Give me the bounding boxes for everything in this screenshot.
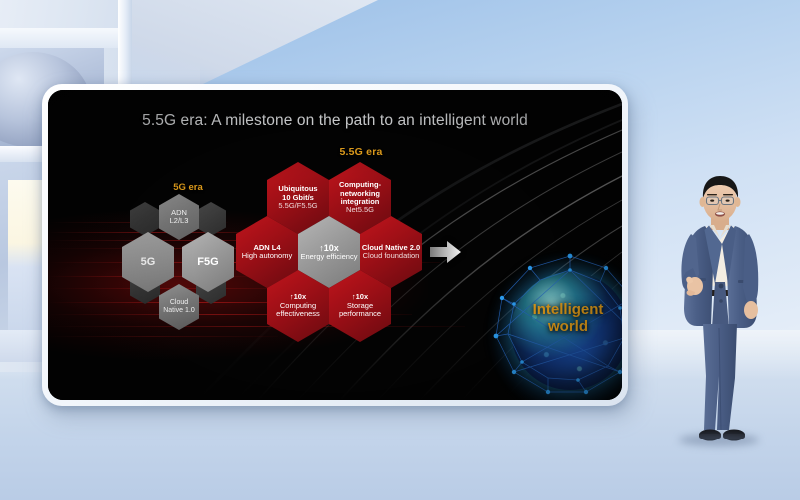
shelf-top [0,28,120,48]
presenter-shadow [679,434,759,446]
screenshot-stage: 5.5G era: A milestone on the path to an … [0,0,800,500]
presentation-screen-frame: 5.5G era: A milestone on the path to an … [42,84,628,406]
presentation-slide: 5.5G era: A milestone on the path to an … [48,90,622,400]
presenter [665,168,775,450]
slide-vignette [48,90,622,400]
presenter-figure-icon [665,168,775,450]
